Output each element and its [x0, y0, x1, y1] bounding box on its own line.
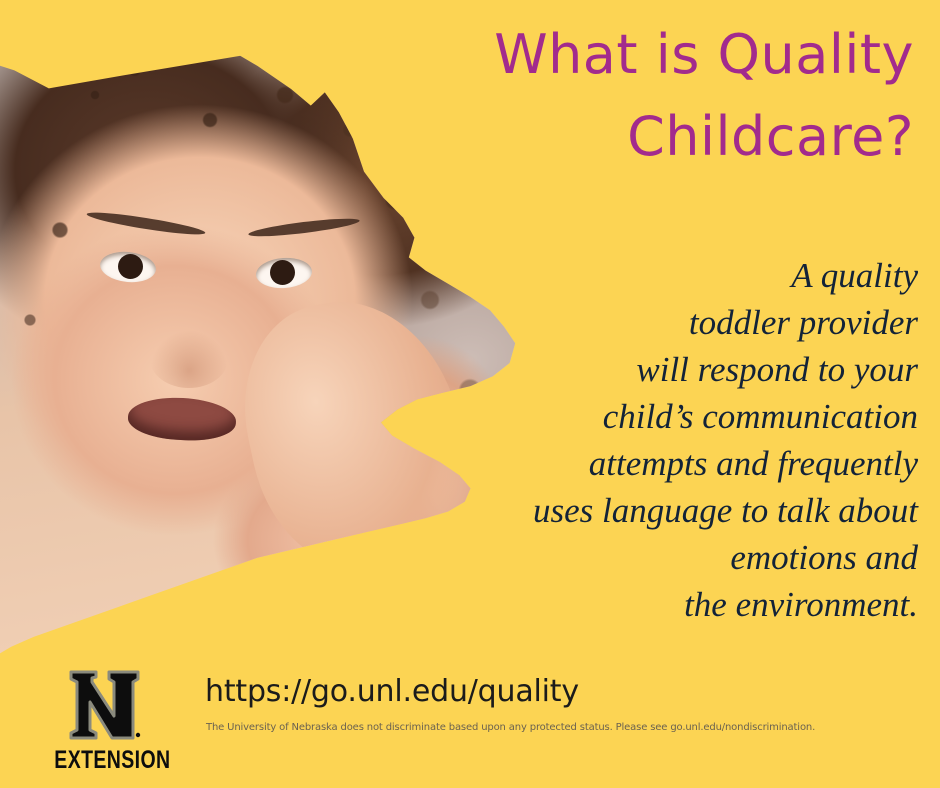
nebraska-extension-logo: EXTENSION — [40, 668, 170, 775]
body-copy-line-1: A quality — [438, 252, 918, 299]
page-title-line-2: Childcare? — [374, 96, 914, 178]
body-copy-line-8: the environment. — [438, 581, 918, 628]
photo-nose — [150, 330, 228, 388]
body-copy-line-5: attempts and frequently — [438, 440, 918, 487]
photo-pupil-left — [118, 254, 143, 279]
page-title-line-1: What is Quality — [374, 14, 914, 96]
nebraska-n-icon — [40, 668, 170, 742]
photo-pupil-right — [270, 260, 295, 285]
body-copy-line-2: toddler provider — [438, 299, 918, 346]
page-title: What is Quality Childcare? — [374, 14, 914, 178]
body-copy-line-3: will respond to your — [438, 346, 918, 393]
poster-canvas: What is Quality Childcare? A quality tod… — [0, 0, 940, 788]
body-copy-line-6: uses language to talk about — [438, 487, 918, 534]
extension-wordmark: EXTENSION — [54, 746, 155, 775]
body-copy-line-7: emotions and — [438, 534, 918, 581]
body-copy: A quality toddler provider will respond … — [438, 252, 918, 628]
body-copy-line-4: child’s communication — [438, 393, 918, 440]
footer-disclaimer: The University of Nebraska does not disc… — [206, 722, 815, 733]
footer-url[interactable]: https://go.unl.edu/quality — [205, 674, 579, 709]
